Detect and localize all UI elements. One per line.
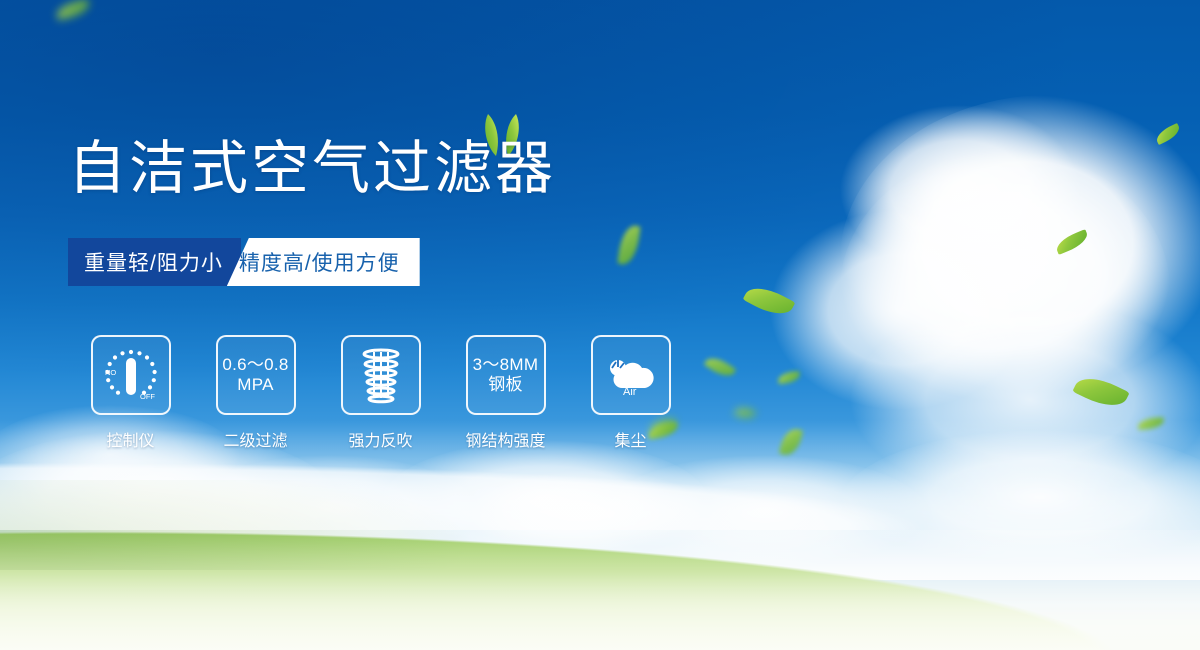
feature-item-blowback: 强力反吹 <box>318 335 443 451</box>
grass-ridge-highlight <box>0 460 1200 530</box>
pressure-range-text: 0.6～0.8 <box>222 355 288 375</box>
cloud-air-label: Air <box>623 386 637 396</box>
feature-caption: 钢结构强度 <box>465 427 545 451</box>
dial-graphic: NO OFF <box>100 344 162 406</box>
feature-list: NO OFF 控制仪 0.6～0.8 MPA 二级过滤 <box>68 335 693 451</box>
airflow-stack-icon <box>341 335 421 415</box>
feature-item-steel-plate: 3～8MM 钢板 钢结构强度 <box>443 335 568 451</box>
steel-thickness-text: 3～8MM <box>473 355 539 375</box>
grass-foreground-light <box>0 530 1200 650</box>
feature-caption: 强力反吹 <box>348 427 412 451</box>
subtitle-badges: 重量轻/阻力小 精度高/使用方便 <box>68 238 420 286</box>
control-dial-icon: NO OFF <box>91 335 171 415</box>
dial-label-off: OFF <box>140 392 155 401</box>
feature-caption: 集尘 <box>614 427 646 451</box>
badge-lightweight-low-resistance: 重量轻/阻力小 <box>68 238 241 286</box>
feature-item-dust-collection: Air 集尘 <box>568 335 693 451</box>
feature-caption: 二级过滤 <box>223 427 287 451</box>
badge-high-precision-easy-use: 精度高/使用方便 <box>227 238 420 286</box>
page-title: 自洁式空气过滤器 <box>68 140 556 198</box>
feature-item-control-dial: NO OFF 控制仪 <box>68 335 193 451</box>
steel-plate-text: 钢板 <box>488 375 523 395</box>
steel-plate-text-icon: 3～8MM 钢板 <box>466 335 546 415</box>
cloud-air-icon: Air <box>591 335 671 415</box>
feature-item-pressure: 0.6～0.8 MPA 二级过滤 <box>193 335 318 451</box>
pressure-text-icon: 0.6～0.8 MPA <box>216 335 296 415</box>
dial-label-no: NO <box>105 368 116 377</box>
cloud-graphic: Air <box>602 354 660 396</box>
product-banner: 自洁式空气过滤器 重量轻/阻力小 精度高/使用方便 <box>0 0 1200 650</box>
airflow-graphic <box>354 346 408 404</box>
feature-caption: 控制仪 <box>106 427 154 451</box>
pressure-unit-text: MPA <box>237 375 273 395</box>
